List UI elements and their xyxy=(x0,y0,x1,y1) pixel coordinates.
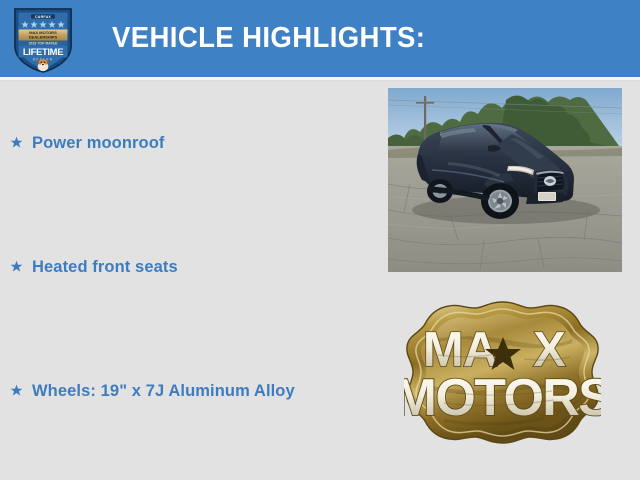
vehicle-photo xyxy=(388,88,622,272)
vehicle-photo-image xyxy=(388,88,622,272)
svg-text:MOTORS: MOTORS xyxy=(404,369,601,427)
max-motors-badge-icon: MA X MOTORS xyxy=(404,299,601,446)
svg-text:DEALERSHIPS: DEALERSHIPS xyxy=(29,35,58,40)
list-item-label: Wheels: 19" x 7J Aluminum Alloy xyxy=(32,380,295,402)
star-bullet-icon xyxy=(10,380,25,398)
list-item: Wheels: 19" x 7J Aluminum Alloy xyxy=(10,380,295,402)
carfax-lifetime-dealer-badge: CARFAX MAX MOTORS DEALERSHIPS 2023 TOP-R… xyxy=(12,6,74,74)
star-bullet-icon xyxy=(10,132,25,150)
page-title: VEHICLE HIGHLIGHTS: xyxy=(112,22,425,55)
max-motors-logo: MA X MOTORS xyxy=(404,299,601,446)
star-bullet-icon xyxy=(10,256,25,274)
list-item-label: Heated front seats xyxy=(32,256,178,278)
svg-text:CARFAX: CARFAX xyxy=(35,15,51,19)
badge-shield-icon: CARFAX MAX MOTORS DEALERSHIPS 2023 TOP-R… xyxy=(12,6,74,74)
header-divider-shadow xyxy=(0,80,640,82)
list-item-label: Power moonroof xyxy=(32,132,164,154)
list-item: Power moonroof xyxy=(10,132,164,154)
list-item: Heated front seats xyxy=(10,256,178,278)
svg-text:LIFETIME: LIFETIME xyxy=(23,46,63,57)
